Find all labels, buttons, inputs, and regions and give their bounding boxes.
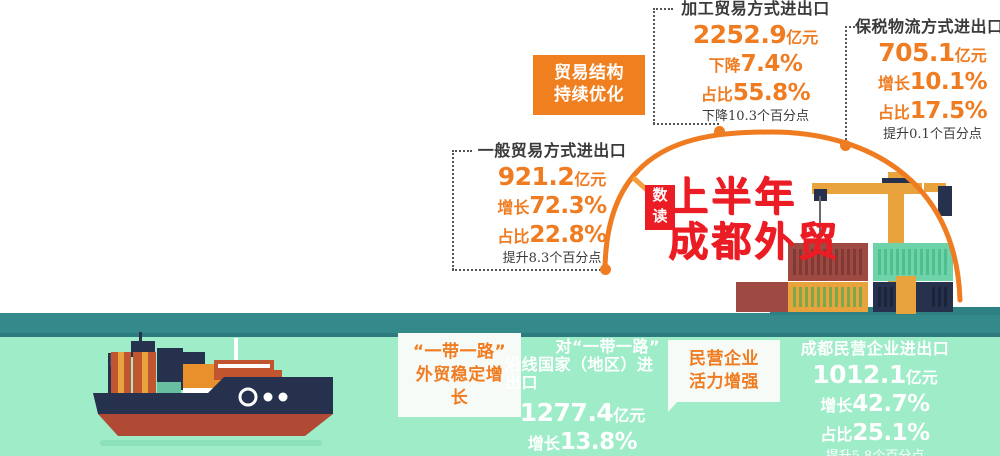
connector-dot-processing [714, 126, 725, 137]
general-trade-amount-value: 921.2 [498, 162, 575, 191]
connector-processing-vertical [653, 8, 655, 124]
general-trade-share-value: 22.8% [529, 222, 606, 248]
block-general-trade: 一般贸易方式进出口 921.2亿元 增长72.3% 占比22.8% 提升8.3个… [462, 142, 642, 267]
general-trade-footnote: 提升8.3个百分点 [462, 252, 642, 267]
belt-road-trade-heading-line3: 出口 [505, 374, 660, 392]
badge-trade-structure[interactable]: 贸易结构 持续优化 [533, 55, 645, 115]
general-trade-share-label: 占比 [497, 227, 529, 246]
general-trade-share: 占比22.8% [462, 223, 642, 249]
badge-private-enterprise-tail [668, 398, 681, 412]
bonded-logistics-share-label: 占比 [878, 103, 910, 122]
crane-counterweight [938, 186, 952, 216]
badge-trade-structure-line2: 持续优化 [543, 84, 635, 106]
ship-keel [98, 414, 333, 436]
belt-road-trade-heading-line1: 对“一带一路” [505, 338, 660, 356]
page-title: 上半年 成都外贸 [668, 178, 938, 262]
belt-road-trade-amount: 1277.4亿元 [505, 399, 660, 427]
processing-trade-share-value: 55.8% [733, 80, 810, 106]
processing-trade-change: 下降7.4% [663, 52, 848, 78]
general-trade-change-value: 72.3% [529, 193, 606, 219]
private-trade-share-label: 占比 [820, 425, 852, 444]
block-belt-road-trade: 对“一带一路” 沿线国家（地区）进 出口 1277.4亿元 增长13.8% [505, 338, 660, 455]
badge-belt-road-line2: 外贸稳定增长 [408, 364, 511, 410]
bonded-logistics-amount-value: 705.1 [878, 38, 955, 67]
private-trade-footnote: 提升5.8个百分点 [775, 450, 975, 456]
page-title-line2: 成都外贸 [668, 223, 938, 262]
belt-road-trade-amount-unit: 亿元 [613, 406, 645, 425]
cargo-ship [93, 332, 333, 446]
private-trade-share: 占比25.1% [775, 421, 975, 447]
private-trade-heading: 成都民营企业进出口 [775, 340, 975, 358]
bonded-logistics-share: 占比17.5% [855, 99, 1000, 125]
private-trade-change-value: 42.7% [852, 391, 929, 417]
processing-trade-footnote: 下降10.3个百分点 [663, 110, 848, 125]
general-trade-change: 增长72.3% [462, 194, 642, 220]
block-bonded-logistics: 保税物流方式进出口 705.1亿元 增长10.1% 占比17.5% 提升0.1个… [855, 18, 1000, 143]
private-trade-amount-unit: 亿元 [906, 368, 938, 387]
badge-trade-structure-line1: 贸易结构 [543, 62, 635, 84]
badge-private-enterprise[interactable]: 民营企业 活力增强 [668, 340, 780, 402]
badge-private-enterprise-line1: 民营企业 [678, 348, 770, 371]
bonded-logistics-change: 增长10.1% [855, 70, 1000, 96]
badge-belt-road-line1: “一带一路” [408, 341, 511, 364]
page-title-line1: 上半年 [668, 178, 938, 217]
belt-road-trade-heading-line2: 沿线国家（地区）进 [505, 356, 660, 374]
processing-trade-amount-unit: 亿元 [786, 28, 818, 47]
belt-road-trade-change: 增长13.8% [505, 430, 660, 456]
general-trade-amount-unit: 亿元 [574, 170, 606, 189]
private-trade-amount-value: 1012.1 [812, 360, 905, 389]
connector-general-trade-vertical [452, 150, 454, 270]
processing-trade-amount-value: 2252.9 [693, 20, 786, 49]
processing-trade-amount: 2252.9亿元 [663, 21, 848, 49]
bonded-logistics-amount: 705.1亿元 [855, 39, 1000, 67]
private-trade-change-label: 增长 [820, 396, 852, 415]
block-processing-trade: 加工贸易方式进出口 2252.9亿元 下降7.4% 占比55.8% 下降10.3… [663, 0, 848, 125]
belt-road-trade-change-value: 13.8% [560, 429, 637, 455]
general-trade-change-label: 增长 [497, 198, 529, 217]
general-trade-amount: 921.2亿元 [462, 163, 642, 191]
processing-trade-change-value: 7.4% [741, 51, 803, 77]
processing-trade-heading: 加工贸易方式进出口 [663, 0, 848, 18]
private-trade-share-value: 25.1% [852, 420, 929, 446]
processing-trade-share-label: 占比 [701, 85, 733, 104]
bonded-logistics-amount-unit: 亿元 [955, 46, 987, 65]
processing-trade-change-label: 下降 [709, 56, 741, 75]
processing-trade-share: 占比55.8% [663, 81, 848, 107]
private-trade-change: 增长42.7% [775, 392, 975, 418]
private-trade-amount: 1012.1亿元 [775, 361, 975, 389]
bonded-logistics-footnote: 提升0.1个百分点 [855, 128, 1000, 143]
connector-dot-bonded [840, 140, 851, 151]
badge-belt-road[interactable]: “一带一路” 外贸稳定增长 [398, 333, 521, 417]
bonded-logistics-change-label: 增长 [878, 74, 910, 93]
badge-private-enterprise-line2: 活力增强 [678, 371, 770, 394]
bonded-logistics-share-value: 17.5% [910, 98, 987, 124]
bonded-logistics-change-value: 10.1% [910, 69, 987, 95]
connector-general-trade-bottom [452, 269, 604, 271]
block-private-trade: 成都民营企业进出口 1012.1亿元 增长42.7% 占比25.1% 提升5.8… [775, 340, 975, 456]
general-trade-heading: 一般贸易方式进出口 [462, 142, 642, 160]
bonded-logistics-heading: 保税物流方式进出口 [855, 18, 1000, 36]
belt-road-trade-change-label: 增长 [528, 434, 560, 453]
infographic-canvas: 一般贸易方式进出口 921.2亿元 增长72.3% 占比22.8% 提升8.3个… [0, 0, 1000, 456]
belt-road-trade-amount-value: 1277.4 [520, 398, 613, 427]
